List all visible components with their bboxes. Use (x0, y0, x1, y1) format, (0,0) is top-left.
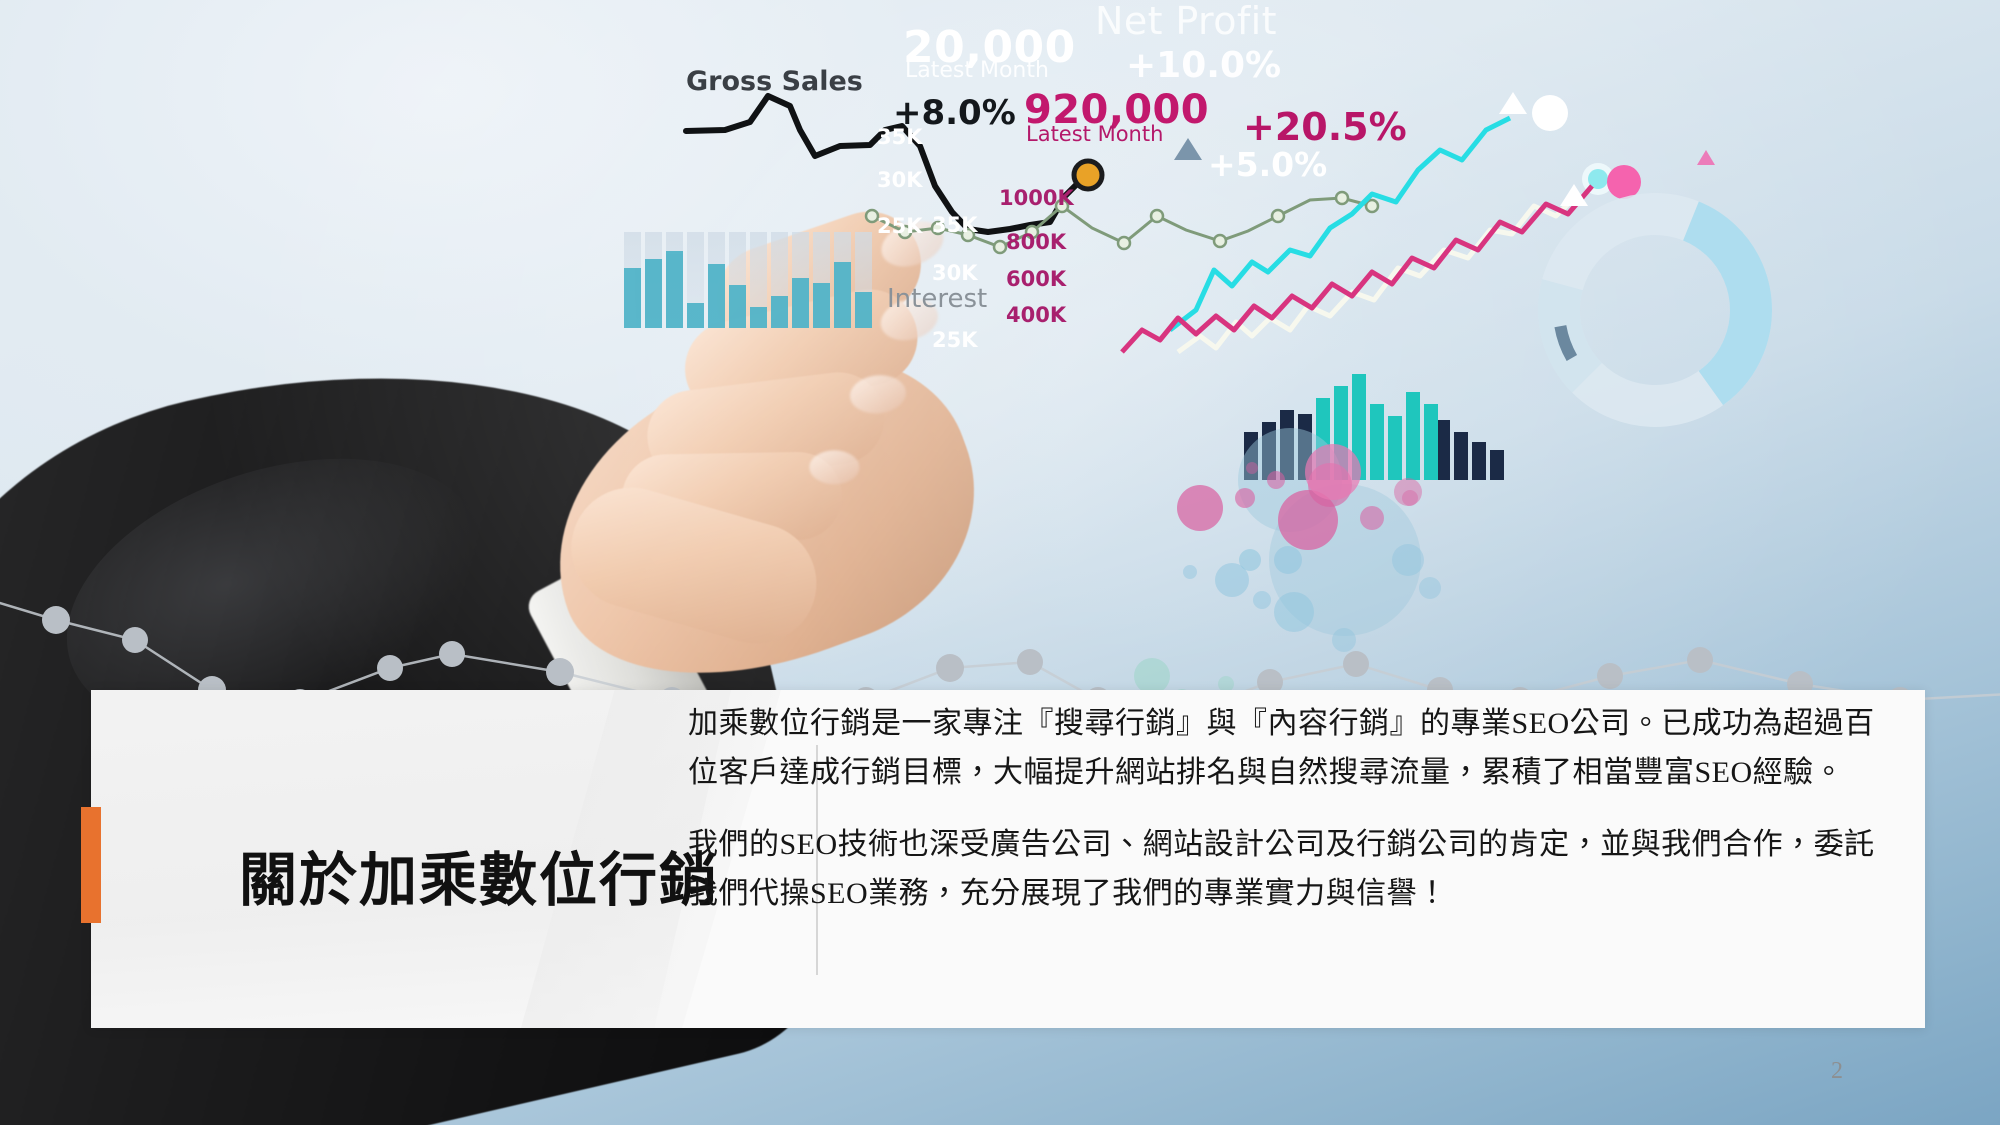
axis-tick-25k-b: 25K (932, 330, 978, 351)
body-paragraph-1: 加乘數位行銷是一家專注『搜尋行銷』與『內容行銷』的專業SEO公司。已成功為超過百… (688, 700, 1878, 797)
slide: Gross Sales Interest Net Profit 20,000 L… (0, 0, 2000, 1125)
net-profit-delta: +10.0% (1126, 48, 1281, 84)
secondary-delta: +5.0% (1208, 148, 1327, 181)
axis-tick-30k-a: 30K (877, 170, 923, 191)
axis-tick-35k-b: 35K (932, 215, 978, 236)
page-title: 關於加乘數位行銷 (239, 847, 759, 914)
growth-delta: +20.5% (1243, 108, 1407, 146)
body-text-column: 加乘數位行銷是一家專注『搜尋行銷』與『內容行銷』的專業SEO公司。已成功為超過百… (688, 700, 1878, 918)
axis-tick-1000k: 1000K (999, 188, 1074, 209)
net-profit-endpoint (1532, 95, 1568, 131)
revenue-caption: Latest Month (1026, 124, 1163, 145)
page-number: 2 (1831, 1058, 1843, 1085)
axis-tick-25k-a: 25K (877, 216, 923, 237)
axis-tick-800k: 800K (1006, 232, 1066, 253)
axis-tick-35k-a: 35K (877, 127, 923, 148)
content-card: 關於加乘數位行銷 加乘數位行銷是一家專注『搜尋行銷』與『內容行銷』的專業SEO公… (91, 690, 1925, 1028)
conversions-endpoint (1607, 165, 1641, 199)
net-profit-label: Net Profit (1095, 2, 1277, 40)
body-paragraph-2: 我們的SEO技術也深受廣告公司、網站設計公司及行銷公司的肯定，並與我們合作，委託… (688, 821, 1878, 918)
left-bar-chart-bars (624, 251, 872, 328)
axis-tick-400k: 400K (1006, 305, 1066, 326)
axis-tick-30k-b: 30K (932, 263, 978, 284)
axis-tick-600k: 600K (1006, 269, 1066, 290)
orange-accent-bar (81, 807, 101, 923)
gross-sales-endpoint (1074, 161, 1102, 189)
gross-sales-label: Gross Sales (686, 68, 863, 95)
latest-month-caption: Latest Month (905, 60, 1049, 82)
interest-label: Interest (887, 286, 987, 312)
